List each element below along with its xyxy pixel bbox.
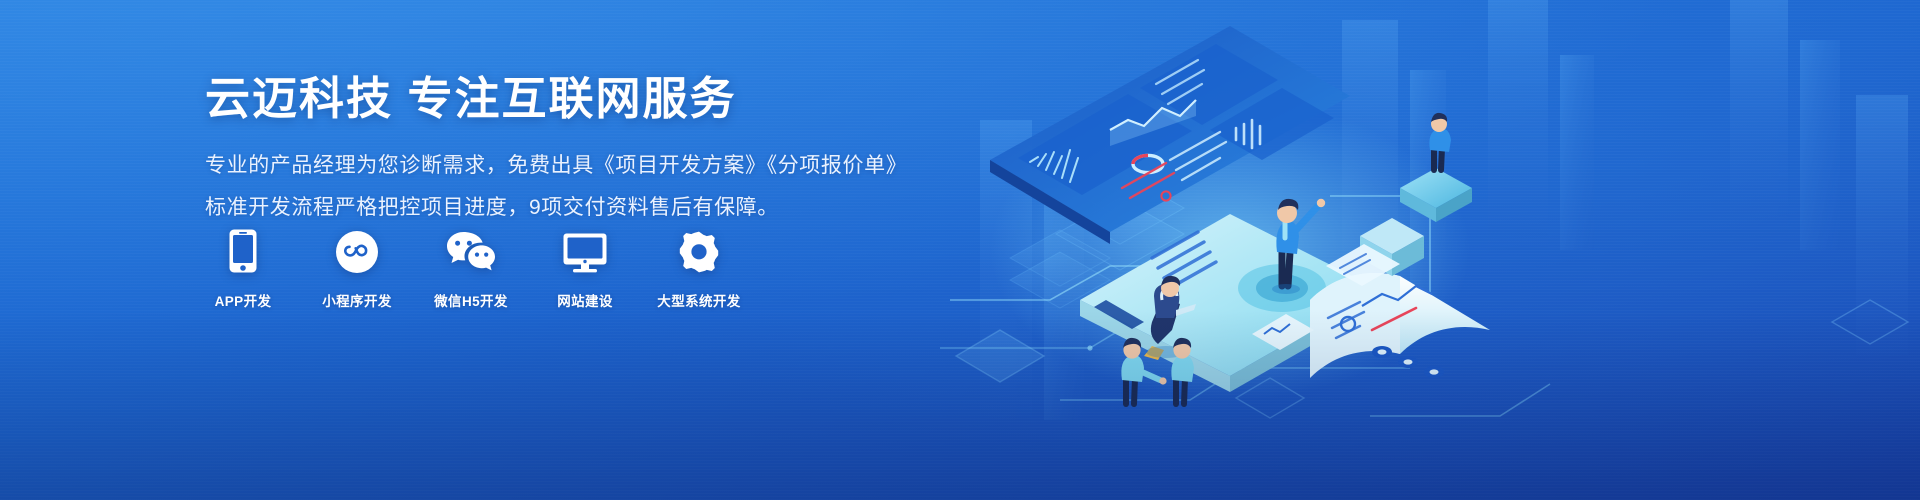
service-label: APP开发 bbox=[215, 290, 272, 310]
subtitle-line-2: 标准开发流程严格把控项目进度，9项交付资料售后有保障。 bbox=[205, 191, 965, 225]
service-label: 大型系统开发 bbox=[657, 290, 740, 310]
wechat-icon bbox=[445, 228, 497, 274]
service-item-app[interactable]: APP开发 bbox=[205, 228, 281, 310]
subtitle-line-1: 专业的产品经理为您诊断需求，免费出具《项目开发方案》《分项报价单》 bbox=[205, 149, 965, 183]
hero-copy: 云迈科技 专注互联网服务 专业的产品经理为您诊断需求，免费出具《项目开发方案》《… bbox=[205, 72, 965, 233]
hero-banner: 云迈科技 专注互联网服务 专业的产品经理为您诊断需求，免费出具《项目开发方案》《… bbox=[0, 0, 1920, 500]
service-item-wechat-h5[interactable]: 微信H5开发 bbox=[433, 228, 509, 310]
service-label: 网站建设 bbox=[557, 290, 613, 310]
monitor-icon bbox=[562, 228, 608, 274]
mini-program-icon bbox=[335, 228, 379, 274]
service-label: 小程序开发 bbox=[322, 290, 392, 310]
service-label: 微信H5开发 bbox=[434, 290, 508, 310]
hero-subtitle: 专业的产品经理为您诊断需求，免费出具《项目开发方案》《分项报价单》 标准开发流程… bbox=[205, 125, 965, 225]
service-item-large-system[interactable]: 大型系统开发 bbox=[661, 228, 737, 310]
page-title: 云迈科技 专注互联网服务 bbox=[205, 72, 965, 125]
service-item-website[interactable]: 网站建设 bbox=[547, 228, 623, 310]
service-item-mini-program[interactable]: 小程序开发 bbox=[319, 228, 395, 310]
mobile-phone-icon bbox=[228, 228, 258, 274]
hero-illustration bbox=[930, 0, 1490, 420]
gear-icon bbox=[677, 228, 721, 274]
service-list: APP开发 小程序开发 微信 bbox=[205, 228, 737, 310]
